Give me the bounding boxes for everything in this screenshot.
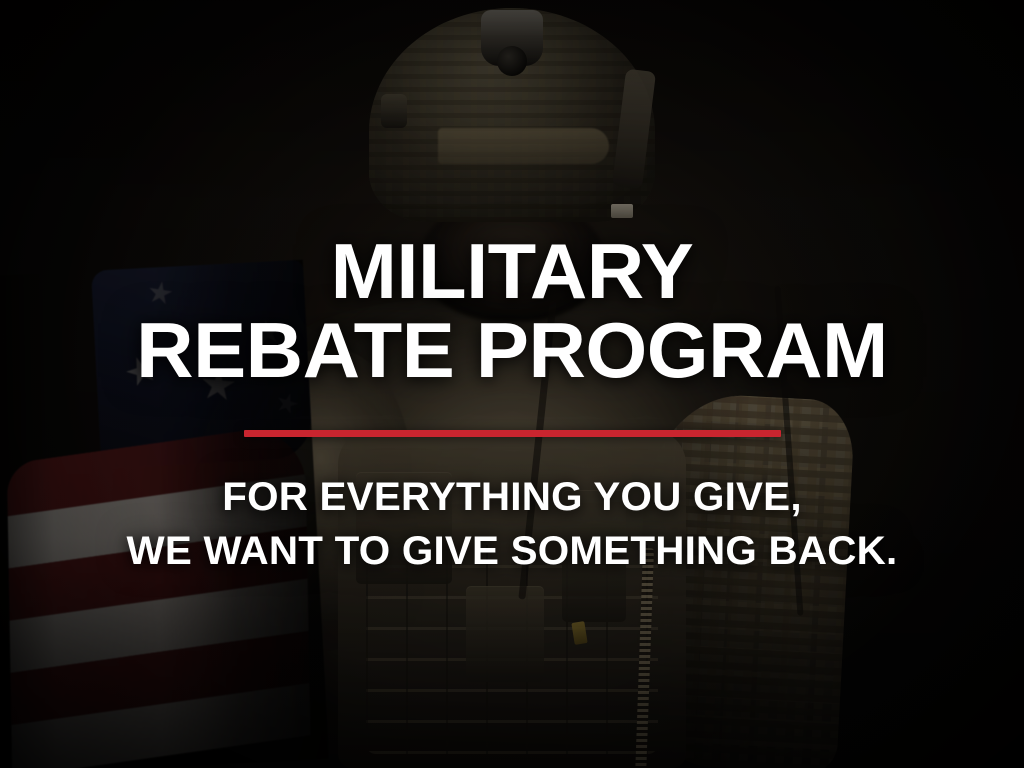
headline-line-2: REBATE PROGRAM bbox=[0, 314, 1024, 387]
subheadline-line-1: FOR EVERYTHING YOU GIVE, bbox=[0, 471, 1024, 525]
military-rebate-banner: MILITARY REBATE PROGRAM FOR EVERYTHING Y… bbox=[0, 0, 1024, 768]
headline: MILITARY REBATE PROGRAM bbox=[0, 21, 1024, 386]
text-overlay: MILITARY REBATE PROGRAM FOR EVERYTHING Y… bbox=[0, 0, 1024, 768]
subheadline-line-2: WE WANT TO GIVE SOMETHING BACK. bbox=[0, 525, 1024, 579]
subheadline: FOR EVERYTHING YOU GIVE, WE WANT TO GIVE… bbox=[0, 471, 1024, 578]
red-divider-rule bbox=[244, 430, 781, 437]
headline-line-1: MILITARY bbox=[0, 235, 1024, 308]
